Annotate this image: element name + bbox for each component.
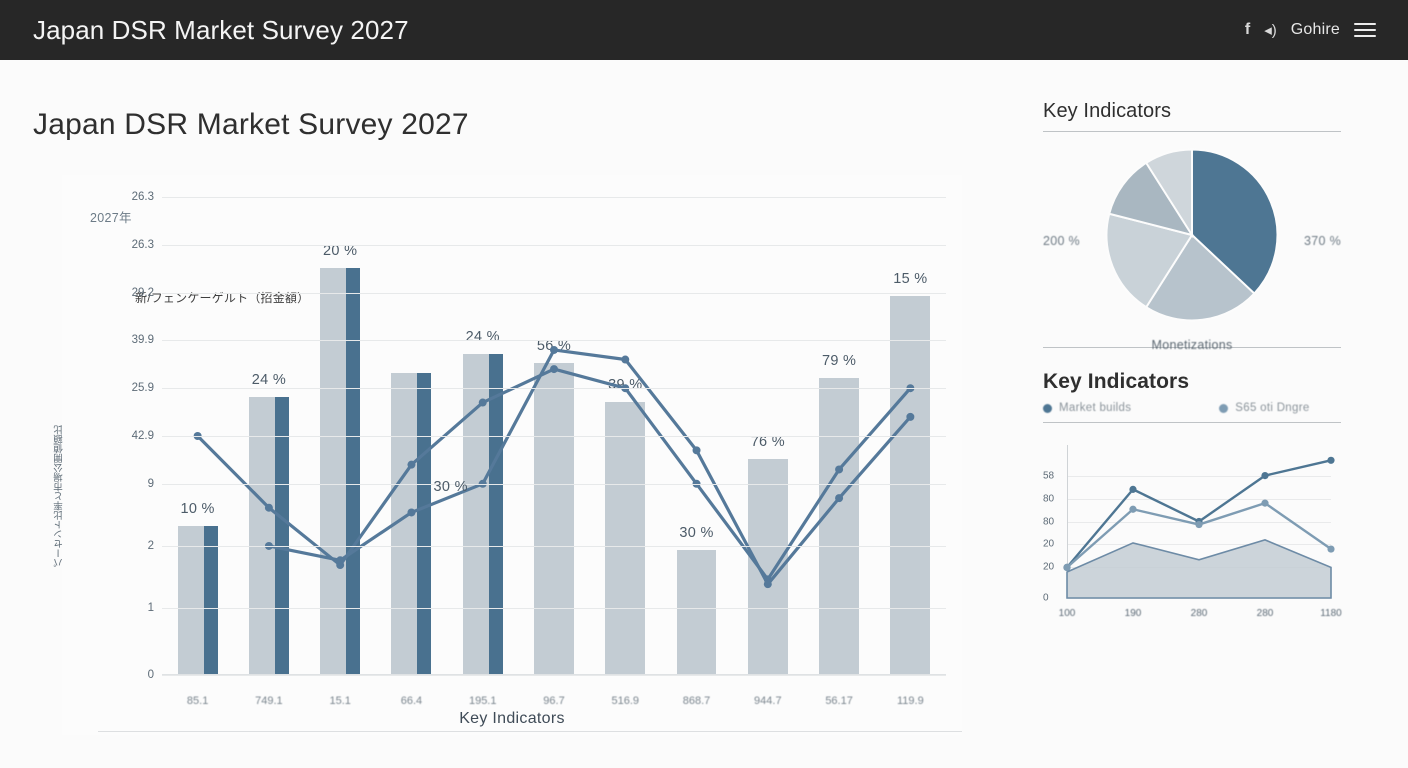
y-axis-tick: 29.2 [132, 287, 154, 299]
bar-highlight-edge [346, 268, 360, 674]
bar-body [677, 550, 717, 674]
gridline [162, 197, 946, 198]
x-axis-tick: 516.9 [612, 695, 640, 707]
bar-value-label: 79 % [822, 353, 856, 369]
x-axis-title: Key Indicators [459, 710, 565, 728]
y-axis-tick: 42.9 [132, 430, 154, 442]
mini-data-point [1327, 457, 1334, 464]
bar[interactable] [391, 373, 431, 674]
legend-item[interactable]: Market builds [1043, 402, 1131, 414]
x-axis-tick: 66.4 [401, 695, 422, 707]
bar[interactable]: 24 % [463, 354, 503, 674]
y-axis-tick: 2 [148, 540, 154, 552]
bar-body [890, 296, 930, 674]
mini-data-point [1129, 486, 1136, 493]
pie-panel: Key Indicators 200 % 370 % Monetizations [1043, 100, 1341, 348]
x-axis-tick: 85.1 [187, 695, 208, 707]
gridline [162, 546, 946, 547]
bar-value-label: 24 % [252, 372, 286, 388]
page-title: Japan DSR Market Survey 2027 [33, 108, 469, 142]
pie-chart[interactable] [1103, 146, 1281, 324]
mini-chart-svg [1043, 441, 1341, 626]
mini-data-point [1327, 545, 1334, 552]
x-axis-tick: 749.1 [255, 695, 283, 707]
y-axis-tick: 9 [148, 478, 154, 490]
x-axis-tick: 15.1 [329, 695, 350, 707]
legend-item[interactable]: S65 oti Dngre [1219, 402, 1309, 414]
bar[interactable]: 39 % [605, 402, 645, 674]
gridline [162, 245, 946, 246]
mini-data-point [1129, 506, 1136, 513]
main-plot-area: 10 %24 %20 %24 %56 %39 %30 %76 %79 %15 %… [110, 197, 946, 675]
x-axis-tick: 195.1 [469, 695, 497, 707]
gridline [162, 608, 946, 609]
legend-label: Market builds [1059, 402, 1131, 414]
bar-value-label: 10 % [181, 501, 215, 517]
mini-chart-legend: Market buildsS65 oti Dngre [1043, 402, 1341, 414]
gridline [162, 675, 946, 676]
mini-chart[interactable]: 588080202001001902802801180 [1043, 441, 1341, 626]
y-axis-tick: 25.9 [132, 382, 154, 394]
y-axis-tick: 1 [148, 602, 154, 614]
pie-caption: Monetizations [1151, 338, 1232, 352]
bar[interactable]: 76 % [748, 459, 788, 674]
mini-area-series [1067, 540, 1331, 598]
gridline [162, 293, 946, 294]
mini-data-point [1261, 500, 1268, 507]
mini-data-point [1195, 521, 1202, 528]
bar-highlight-edge [275, 397, 289, 674]
mini-data-point [1063, 564, 1070, 571]
pie-label-left: 200 % [1043, 234, 1080, 248]
hamburger-menu-icon[interactable] [1354, 23, 1376, 37]
y-axis-tick: 26.3 [132, 239, 154, 251]
app-header: Japan DSR Market Survey 2027 f ◂) Gohire [0, 0, 1408, 60]
facebook-icon[interactable]: f [1245, 22, 1250, 38]
gridline [162, 436, 946, 437]
bar[interactable]: 56 % [534, 363, 574, 674]
mini-panel: Key Indicators Market buildsS65 oti Dngr… [1043, 370, 1341, 626]
bar[interactable]: 24 % [249, 397, 289, 674]
y-axis-tick: 26.3 [132, 191, 154, 203]
bar-highlight-edge [489, 354, 503, 674]
y-axis-tick: 0 [148, 669, 154, 681]
page-body: Japan DSR Market Survey 2027 2027年 新/フェン… [0, 60, 1408, 768]
brand-label[interactable]: Gohire [1291, 21, 1340, 39]
x-axis-tick: 56.17 [825, 695, 853, 707]
gridline [162, 388, 946, 389]
header-actions: f ◂) Gohire [1245, 21, 1390, 39]
pie-chart-container: 200 % 370 % Monetizations [1043, 132, 1341, 347]
legend-label: S65 oti Dngre [1235, 402, 1309, 414]
pie-panel-title: Key Indicators [1043, 100, 1341, 123]
bar-value-label: 39 % [608, 377, 642, 393]
bar-body [748, 459, 788, 674]
x-axis-tick: 944.7 [754, 695, 782, 707]
x-axis-tick: 868.7 [683, 695, 711, 707]
bar-value-label: 30 % [679, 525, 713, 541]
bar-body [534, 363, 574, 674]
chart-annotation: 30 % [434, 479, 468, 495]
bar[interactable]: 20 % [320, 268, 360, 674]
card-divider [98, 731, 962, 732]
bar-value-label: 15 % [893, 271, 927, 287]
bar[interactable]: 10 % [178, 526, 218, 674]
y-axis-title: パーセント比率と市場公開値額比 [53, 425, 69, 568]
gridline [162, 484, 946, 485]
mini-panel-title: Key Indicators [1043, 370, 1341, 394]
gridline [162, 340, 946, 341]
mini-data-point [1261, 472, 1268, 479]
x-axis-tick: 96.7 [543, 695, 564, 707]
bar-highlight-edge [204, 526, 218, 674]
legend-color-dot [1219, 404, 1228, 413]
main-chart-card: 2027年 新/フェンケーゲルト（招金額） パーセント比率と市場公開値額比 10… [62, 175, 962, 735]
bar-highlight-edge [417, 373, 431, 674]
bar[interactable]: 79 % [819, 378, 859, 674]
bar-body [819, 378, 859, 674]
mini-panel-divider [1043, 422, 1341, 423]
bar-body [605, 402, 645, 674]
pie-label-right: 370 % [1304, 234, 1341, 248]
y-axis-tick: 39.9 [132, 334, 154, 346]
sound-icon[interactable]: ◂) [1264, 23, 1277, 38]
right-rail: Key Indicators 200 % 370 % Monetizations… [1043, 100, 1341, 626]
bar[interactable]: 30 % [677, 550, 717, 674]
legend-color-dot [1043, 404, 1052, 413]
app-title: Japan DSR Market Survey 2027 [33, 15, 409, 46]
x-axis-tick: 119.9 [897, 695, 924, 707]
bar-value-label: 24 % [466, 329, 500, 345]
bar[interactable]: 15 % [890, 296, 930, 674]
